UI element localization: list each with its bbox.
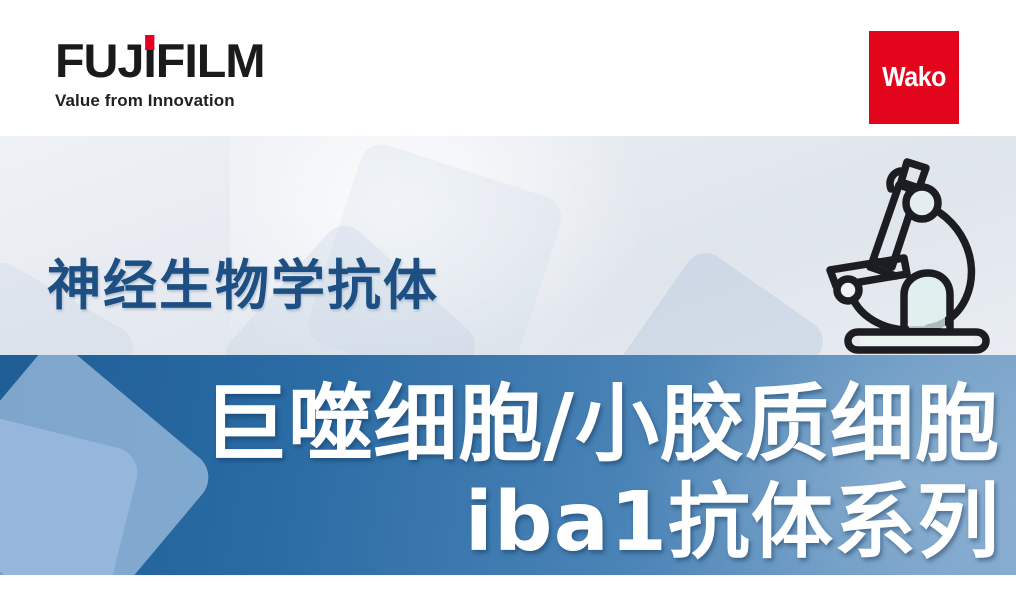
microscope-stage-knob <box>837 279 859 301</box>
banner-subtitle: 神经生物学抗体 <box>47 257 439 315</box>
page-header: FUJIFILM Value from Innovation Wako <box>0 0 1016 136</box>
footer-strip <box>0 575 1016 597</box>
microscope-focus-knob <box>906 187 938 219</box>
fujifilm-wordmark: FUJIFILM <box>55 36 265 86</box>
promotional-banner-page: FUJIFILM Value from Innovation Wako 神经生物… <box>0 0 1016 597</box>
hero-title-line-2: iba1抗体系列 <box>465 478 1000 568</box>
wordmark-letter-i: I <box>143 36 155 86</box>
brand-tagline: Value from Innovation <box>55 91 259 111</box>
wordmark-segment-film: FILM <box>156 34 265 87</box>
wako-logo-label: Wako <box>882 61 946 93</box>
microscope-icon <box>800 140 1000 355</box>
wordmark-segment-fuj: FUJ <box>55 34 143 87</box>
hero-title-line-1: 巨噬细胞/小胶质细胞 <box>203 378 1000 470</box>
wako-logo: Wako <box>869 31 959 124</box>
fujifilm-brand-lockup: FUJIFILM Value from Innovation <box>55 36 259 111</box>
red-accent-dot-icon <box>145 35 154 50</box>
